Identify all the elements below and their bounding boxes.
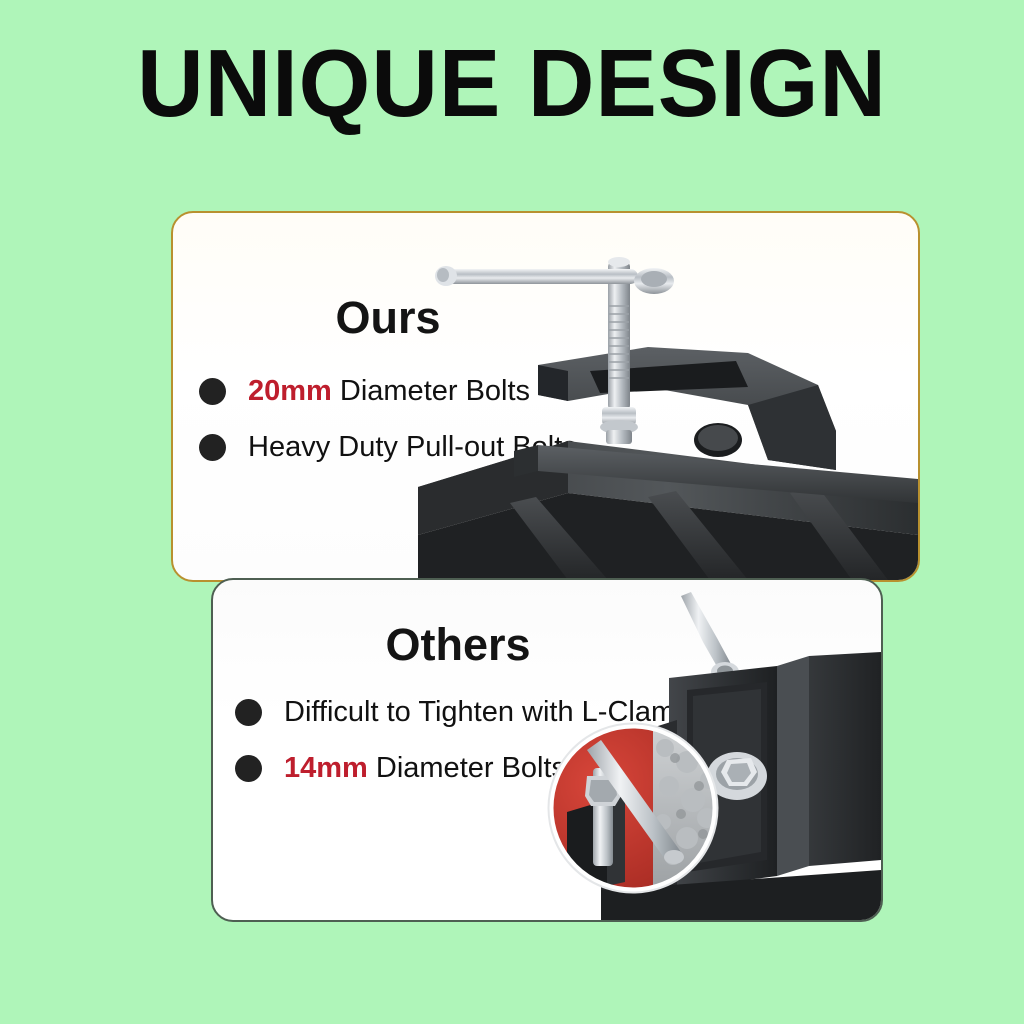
- page-title: UNIQUE DESIGN: [20, 34, 1003, 134]
- feature-label: Diameter Bolts: [376, 752, 566, 784]
- bullet-dot-icon: [235, 755, 262, 782]
- feature-text: 14mm Diameter Bolts: [284, 752, 566, 784]
- feature-highlight: 14mm: [284, 752, 368, 784]
- feature-highlight: 20mm: [248, 375, 332, 407]
- product-photo-ours: [418, 235, 918, 580]
- bullet-dot-icon: [235, 699, 262, 726]
- infographic-stage: UNIQUE DESIGN Ours 20mm Diameter Bolts H…: [0, 0, 1024, 1024]
- bullet-dot-icon: [199, 378, 226, 405]
- comparison-card-ours: Ours 20mm Diameter Bolts Heavy Duty Pull…: [171, 211, 920, 582]
- bullet-dot-icon: [199, 434, 226, 461]
- product-photo-others: [541, 590, 881, 920]
- comparison-card-others: Others Difficult to Tighten with L-Clamp…: [211, 578, 883, 922]
